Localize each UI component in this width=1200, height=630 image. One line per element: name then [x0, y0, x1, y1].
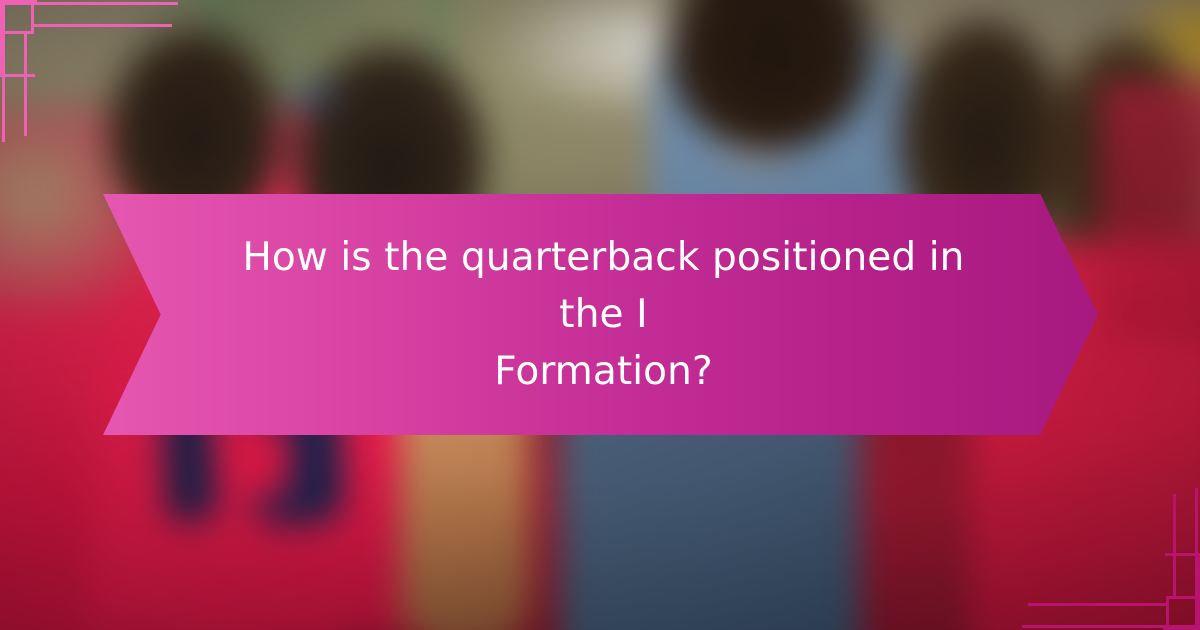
social-card: How is the quarterback positioned in the… — [0, 0, 1200, 630]
corner-inner-bracket-icon — [0, 0, 35, 77]
corner-rule-vertical-inner — [24, 32, 27, 136]
corner-rule-horizontal-inner — [1028, 603, 1168, 606]
corner-rule-horizontal-outer — [32, 2, 178, 5]
headline-banner: How is the quarterback positioned in the… — [103, 194, 1098, 435]
corner-rule-horizontal-outer — [1022, 625, 1168, 628]
corner-rule-vertical-outer — [1195, 488, 1198, 598]
headline-text: How is the quarterback positioned in the… — [234, 229, 974, 400]
corner-frame-bottom-right — [1000, 470, 1200, 630]
corner-frame-top-left — [0, 0, 200, 160]
corner-rule-horizontal-inner — [32, 24, 172, 27]
corner-rule-vertical-inner — [1173, 494, 1176, 598]
corner-rule-vertical-outer — [2, 32, 5, 142]
